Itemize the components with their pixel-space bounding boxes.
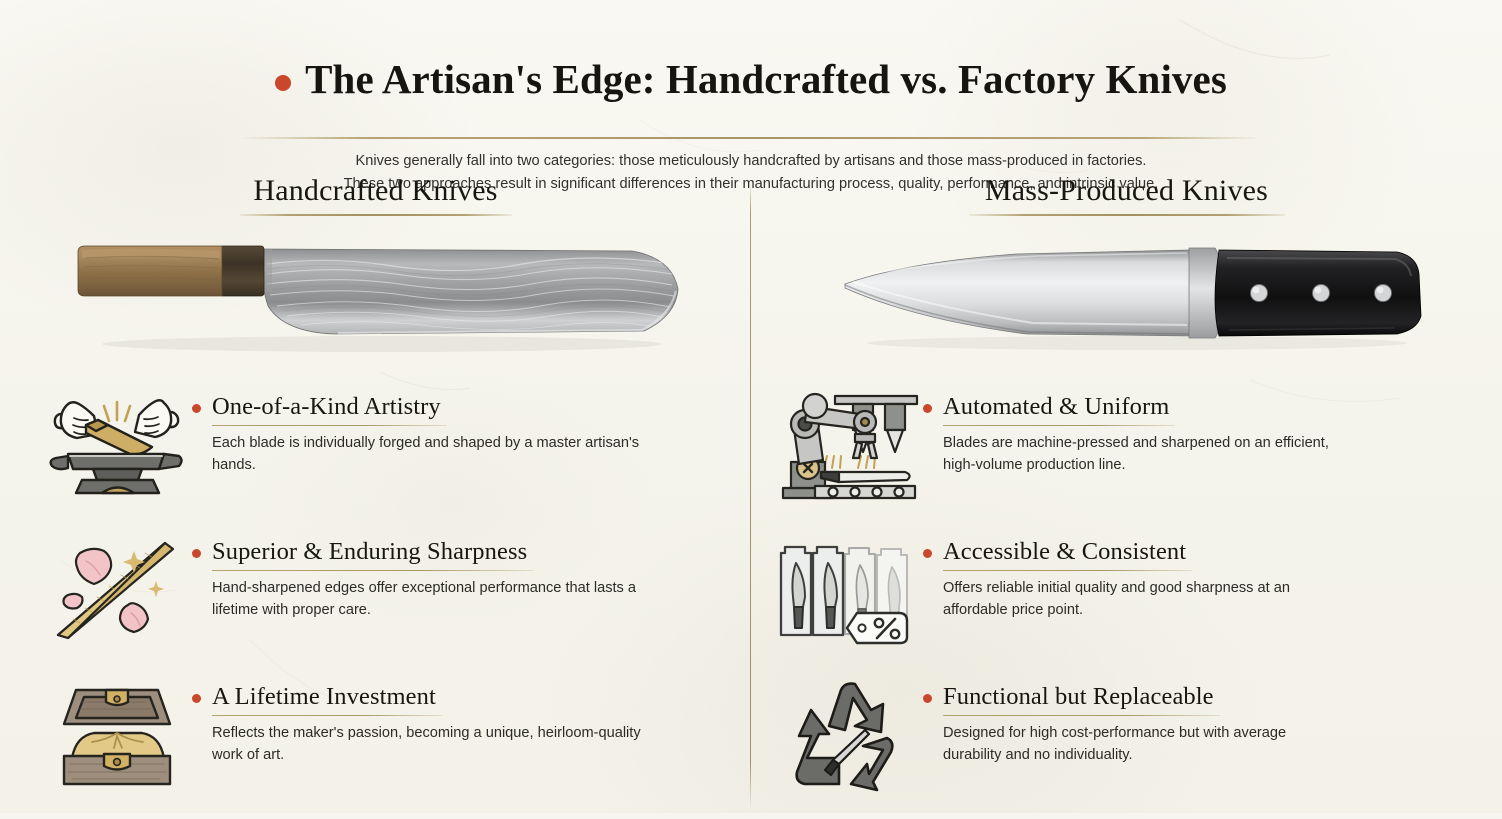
feature-heading: One-of-a-Kind Artistry — [212, 393, 441, 420]
feature-bullet-icon — [192, 404, 201, 413]
feature-bullet-icon — [923, 694, 932, 703]
feature-heading: Functional but Replaceable — [943, 683, 1214, 710]
feature-heading: A Lifetime Investment — [212, 683, 436, 710]
feature-item: Superior & Enduring Sharpness Hand-sharp… — [0, 529, 751, 674]
anvil-forging-hands-icon — [42, 384, 192, 500]
feature-heading: Automated & Uniform — [943, 393, 1169, 420]
column-header-handcrafted: Handcrafted Knives — [0, 168, 751, 216]
column-header-mass-produced: Mass-Produced Knives — [751, 168, 1502, 216]
feature-heading-underline — [212, 425, 447, 427]
feature-item: Automated & Uniform Blades are machine-p… — [751, 384, 1502, 529]
feature-heading: Superior & Enduring Sharpness — [212, 538, 527, 565]
feature-description: Each blade is individually forged and sh… — [212, 433, 642, 476]
feature-item: Accessible & Consistent Offers reliable … — [751, 529, 1502, 674]
feature-list-mass-produced: Automated & Uniform Blades are machine-p… — [751, 384, 1502, 819]
feature-bullet-icon — [923, 549, 932, 558]
feature-heading-underline — [943, 425, 1175, 427]
feature-heading-underline — [943, 715, 1220, 717]
feature-item: One-of-a-Kind Artistry Each blade is ind… — [0, 384, 751, 529]
hero-image-handcrafted-knife — [0, 232, 751, 370]
column-mass-produced: Mass-Produced Knives — [751, 168, 1502, 813]
packaged-knives-price-tag-icon — [773, 529, 923, 647]
blade-cherry-blossom-icon — [42, 529, 192, 645]
feature-heading-underline — [943, 570, 1192, 572]
robot-arm-conveyor-icon — [773, 384, 923, 502]
comparison-columns: Handcrafted Knives — [0, 168, 1502, 813]
feature-bullet-icon — [192, 694, 201, 703]
recycle-knife-icon — [773, 674, 923, 792]
feature-description: Offers reliable initial quality and good… — [943, 578, 1343, 621]
feature-bullet-icon — [923, 404, 932, 413]
hero-image-mass-produced-knife — [751, 232, 1502, 370]
feature-description: Blades are machine-pressed and sharpened… — [943, 433, 1343, 476]
feature-item: Functional but Replaceable Designed for … — [751, 674, 1502, 819]
column-title-mass-produced: Mass-Produced Knives — [751, 174, 1502, 208]
feature-heading-underline — [212, 715, 442, 717]
feature-description: Designed for high cost-performance but w… — [943, 723, 1343, 766]
feature-description: Reflects the maker's passion, becoming a… — [212, 723, 642, 766]
page-title: The Artisan's Edge: Handcrafted vs. Fact… — [305, 57, 1227, 102]
column-title-handcrafted: Handcrafted Knives — [0, 174, 751, 208]
feature-text: A Lifetime Investment Reflects the maker… — [192, 674, 751, 766]
feature-description: Hand-sharpened edges offer exceptional p… — [212, 578, 642, 621]
column-handcrafted: Handcrafted Knives — [0, 168, 751, 813]
feature-text: Accessible & Consistent Offers reliable … — [923, 529, 1502, 621]
column-title-rule — [969, 214, 1285, 216]
feature-text: Functional but Replaceable Designed for … — [923, 674, 1502, 766]
feature-item: A Lifetime Investment Reflects the maker… — [0, 674, 751, 819]
feature-text: Superior & Enduring Sharpness Hand-sharp… — [192, 529, 751, 621]
feature-text: One-of-a-Kind Artistry Each blade is ind… — [192, 384, 751, 476]
title-bullet-icon — [275, 75, 291, 91]
feature-list-handcrafted: One-of-a-Kind Artistry Each blade is ind… — [0, 384, 751, 819]
feature-bullet-icon — [192, 549, 201, 558]
feature-text: Automated & Uniform Blades are machine-p… — [923, 384, 1502, 476]
title-divider-rule — [241, 137, 1261, 139]
column-title-rule — [240, 214, 512, 216]
feature-heading-underline — [212, 570, 533, 572]
treasure-chest-icon — [42, 674, 192, 792]
feature-heading: Accessible & Consistent — [943, 538, 1186, 565]
